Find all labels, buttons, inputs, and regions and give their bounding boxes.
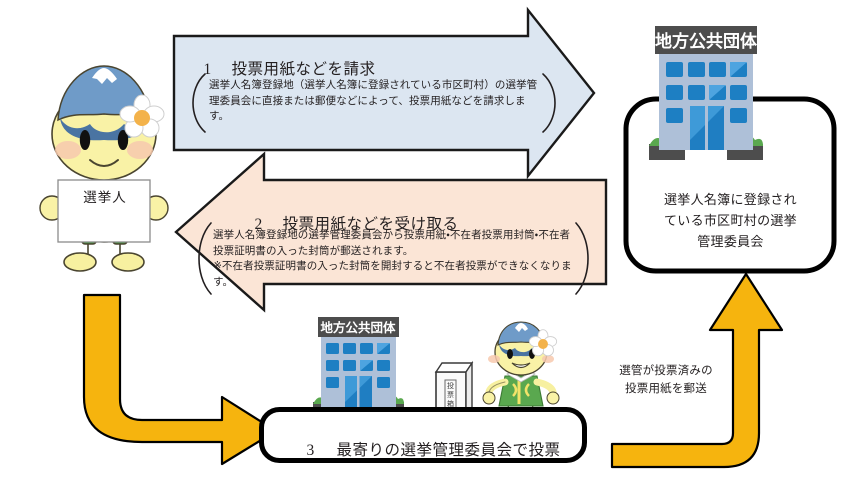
step-3-number: 3 xyxy=(307,442,337,460)
ballot-box-label: 投 xyxy=(447,381,454,390)
step-1-close-bracket-icon xyxy=(540,72,558,134)
step-3-title: 3最寄りの選挙管理委員会で投票 xyxy=(289,420,561,478)
mail-back-note: 選管が投票済みの 投票用紙を郵送 xyxy=(591,362,741,398)
step-1-title-text: 投票用紙などを請求 xyxy=(232,61,376,78)
building-sign-text: 地方公共団体 xyxy=(655,31,758,52)
step-3-title-text: 最寄りの選挙管理委員会で投票 xyxy=(337,442,561,459)
registered-municipality-caption: 選挙人名簿に登録され ている市区町村の選挙 管理委員会 xyxy=(629,189,832,252)
step-1-number: 1 xyxy=(204,61,232,79)
municipality-building-icon: 地方公共団体 xyxy=(645,22,767,172)
step-2-body-text: 選挙人名簿登録地の選挙管理委員会から投票用紙・不在者投票用封筒・不在者投票証明書… xyxy=(213,228,573,290)
voter-sign-label: 選挙人 xyxy=(62,186,148,206)
svg-text:票: 票 xyxy=(447,391,454,399)
step-2-close-bracket-icon xyxy=(573,221,591,296)
voter-character xyxy=(30,62,180,277)
step-1-body-text: 選挙人名簿登録地（選挙人名簿に登録されている市区町村）の選挙管理委員会に直接また… xyxy=(209,78,539,125)
diagram-canvas: 1投票用紙などを請求 選挙人名簿登録地（選挙人名簿に登録されている市区町村）の選… xyxy=(0,0,850,478)
step-2-open-bracket-icon xyxy=(196,221,214,296)
polling-building-sign-text: 地方公共団体 xyxy=(320,320,396,335)
